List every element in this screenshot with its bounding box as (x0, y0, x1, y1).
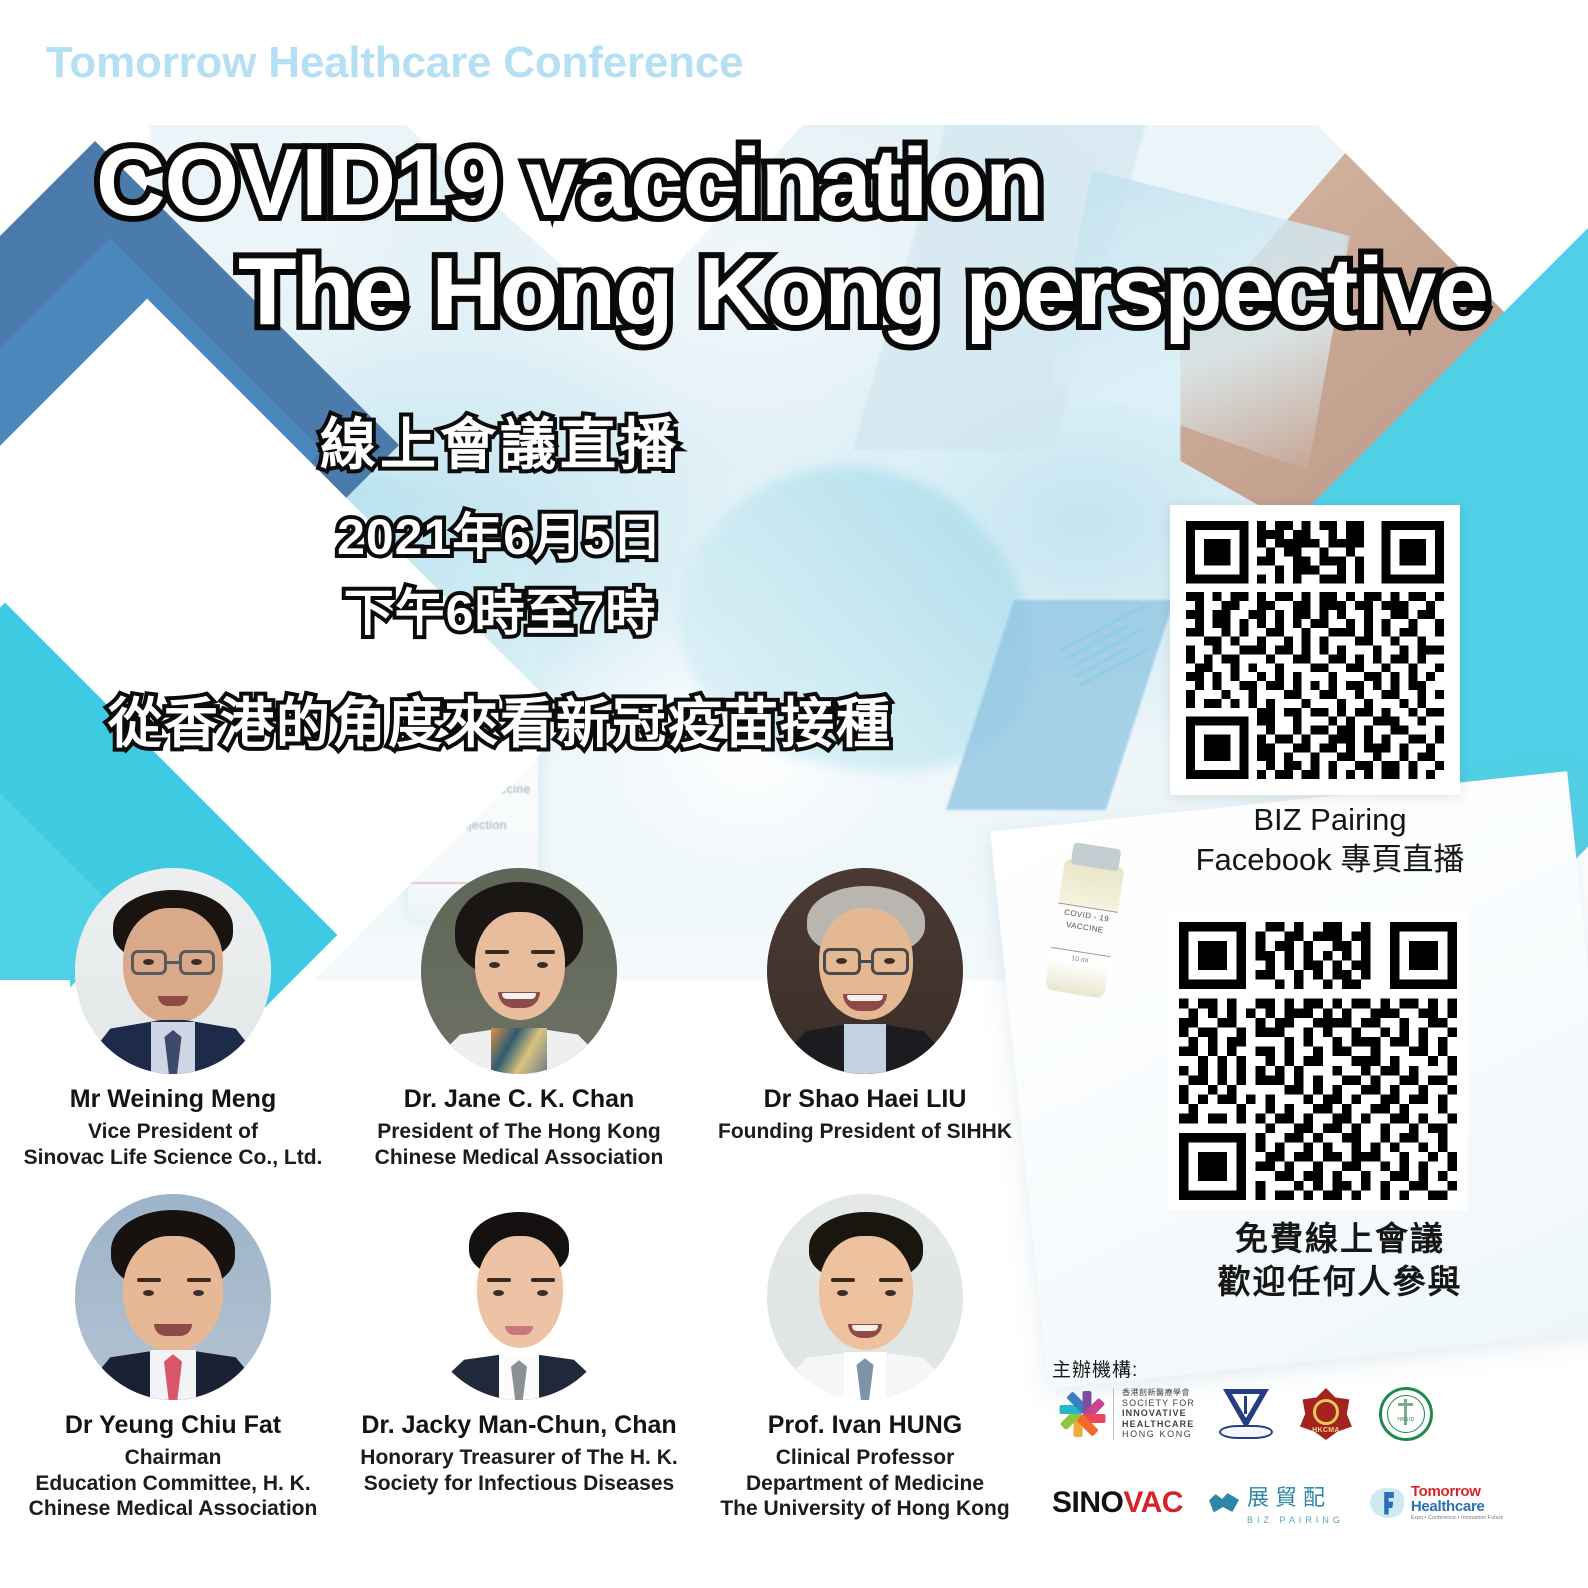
logo-hkam-crest (1217, 1385, 1275, 1443)
speaker-role-line: Sinovac Life Science Co., Ltd. (0, 1145, 346, 1171)
facebook-label: BIZ Pairing Facebook 專頁直播 (1130, 800, 1530, 879)
page-title: COVID19 vaccination The Hong Kong perspe… (0, 128, 1588, 347)
avatar (421, 868, 617, 1074)
tomorrow-wordmark: Tomorrow Healthcare Expo • Conference • … (1411, 1484, 1504, 1521)
logo-tomorrow-healthcare: Tomorrow Healthcare Expo • Conference • … (1370, 1484, 1504, 1521)
handshake-icon (1209, 1490, 1239, 1516)
avatar (75, 868, 271, 1074)
speaker-card-6: Prof. Ivan HUNG Clinical Professor Depar… (692, 1194, 1038, 1522)
speaker-card-3: Dr Shao Haei LIU Founding President of S… (692, 868, 1038, 1170)
conference-poster: COVID 19 coronavirus vaccine for injecti… (0, 0, 1588, 1588)
logo-sihhk: 香港創新醫療學會 SOCIETY FOR INNOVATIVE HEALTHCA… (1052, 1388, 1195, 1440)
speaker-role: President of The Hong Kong Chinese Medic… (346, 1119, 692, 1170)
free-webinar-line1: 免費線上會議 (1140, 1218, 1540, 1261)
logo-bizpairing: 展貿配 BIZ PAIRING (1209, 1480, 1344, 1525)
bizpairing-en: BIZ PAIRING (1247, 1515, 1344, 1525)
tomorrow-line2: Healthcare (1411, 1499, 1504, 1514)
sihhk-en2: INNOVATIVE (1122, 1408, 1195, 1418)
tomorrow-line1: Tomorrow (1411, 1484, 1504, 1499)
event-time: 下午6時至7時 (0, 573, 1000, 645)
speaker-row-2: Dr Yeung Chiu Fat Chairman Education Com… (0, 1194, 1040, 1522)
speaker-name: Dr. Jane C. K. Chan (346, 1084, 692, 1114)
qr-card-registration[interactable] (1170, 505, 1460, 795)
speaker-role-line: Honorary Treasurer of The H. K. (346, 1445, 692, 1471)
speaker-card-2: Dr. Jane C. K. Chan President of The Hon… (346, 868, 692, 1170)
speaker-role: Honorary Treasurer of The H. K. Society … (346, 1445, 692, 1496)
speaker-row-1: Mr Weining Meng Vice President of Sinova… (0, 868, 1040, 1170)
qr-code-registration[interactable] (1186, 521, 1444, 779)
speaker-role-line: Clinical Professor (692, 1445, 1038, 1471)
organizer-logos: 香港創新醫療學會 SOCIETY FOR INNOVATIVE HEALTHCA… (1052, 1385, 1572, 1443)
sihhk-mark-icon (1052, 1388, 1104, 1440)
speaker-name: Prof. Ivan HUNG (692, 1410, 1038, 1440)
speaker-role: Founding President of SIHHK (692, 1119, 1038, 1145)
sinovac-part2: VAC (1123, 1486, 1183, 1519)
sihhk-zh: 香港創新醫療學會 (1122, 1388, 1195, 1397)
hksid-abbr: HKSID (1377, 1417, 1435, 1423)
hkcma-abbr: HKCMA (1297, 1427, 1355, 1434)
free-webinar-label: 免費線上會議 歡迎任何人參與 (1140, 1218, 1540, 1304)
tomorrow-line3: Expo • Conference • Innovation Future (1411, 1516, 1504, 1521)
speaker-name: Dr Yeung Chiu Fat (0, 1410, 346, 1440)
speaker-card-5: Dr. Jacky Man-Chun, Chan Honorary Treasu… (346, 1194, 692, 1522)
title-line-2: The Hong Kong perspective (238, 237, 1588, 346)
conference-kicker: Tomorrow Healthcare Conference (46, 38, 743, 88)
speaker-card-1: Mr Weining Meng Vice President of Sinova… (0, 868, 346, 1170)
sihhk-en4: HONG KONG (1122, 1429, 1195, 1439)
speaker-role-line: Department of Medicine (692, 1471, 1038, 1497)
speaker-role: Clinical Professor Department of Medicin… (692, 1445, 1038, 1522)
event-subtitle: 從香港的角度來看新冠疫苗接種 (0, 679, 1000, 758)
speaker-role: Chairman Education Committee, H. K. Chin… (0, 1445, 346, 1522)
sponsor-logos: SINOVAC 展貿配 BIZ PAIRING Tomorrow Healthc… (1052, 1480, 1588, 1525)
speaker-role-line: Chinese Medical Association (346, 1145, 692, 1171)
speaker-role-line: Society for Infectious Diseases (346, 1471, 692, 1497)
title-line-1: COVID19 vaccination (96, 128, 1588, 237)
free-webinar-line2: 歡迎任何人參與 (1140, 1261, 1540, 1304)
event-date: 2021年6月5日 (0, 497, 1000, 569)
avatar (75, 1194, 271, 1400)
logo-hksid-crest: HKSID (1377, 1385, 1435, 1443)
speaker-role-line: Vice President of (0, 1119, 346, 1145)
logo-sinovac: SINOVAC (1052, 1486, 1183, 1520)
sihhk-en3: HEALTHCARE (1122, 1419, 1195, 1429)
speaker-list: Mr Weining Meng Vice President of Sinova… (0, 868, 1040, 1522)
live-stream-label: 線上會議直播 (0, 400, 1000, 481)
sihhk-en1: SOCIETY FOR (1122, 1398, 1195, 1408)
speaker-role-line: Chinese Medical Association (0, 1496, 346, 1522)
logo-hkcma-crest: HKCMA (1297, 1385, 1355, 1443)
avatar (421, 1194, 617, 1400)
sinovac-part1: SINO (1052, 1486, 1123, 1519)
bizpairing-zh: 展貿配 (1247, 1480, 1344, 1512)
qr-card-facebook[interactable] (1168, 912, 1468, 1210)
speaker-role-line: Education Committee, H. K. (0, 1471, 346, 1497)
facebook-label-line1: BIZ Pairing (1130, 800, 1530, 840)
avatar (767, 868, 963, 1074)
speaker-name: Dr Shao Haei LIU (692, 1084, 1038, 1114)
event-details: 線上會議直播 2021年6月5日 下午6時至7時 從香港的角度來看新冠疫苗接種 (0, 400, 1000, 758)
qr-code-facebook[interactable] (1178, 922, 1458, 1200)
speaker-name: Mr Weining Meng (0, 1084, 346, 1114)
avatar (767, 1194, 963, 1400)
facebook-label-line2: Facebook 專頁直播 (1130, 840, 1530, 880)
tomorrow-mark-icon (1370, 1488, 1404, 1518)
organizers-label: 主辦機構: (1052, 1355, 1138, 1382)
speaker-role-line: Chairman (0, 1445, 346, 1471)
sihhk-wordmark: 香港創新醫療學會 SOCIETY FOR INNOVATIVE HEALTHCA… (1113, 1388, 1195, 1439)
speaker-name: Dr. Jacky Man-Chun, Chan (346, 1410, 692, 1440)
speaker-card-4: Dr Yeung Chiu Fat Chairman Education Com… (0, 1194, 346, 1522)
speaker-role-line: The University of Hong Kong (692, 1496, 1038, 1522)
speaker-role-line: Founding President of SIHHK (692, 1119, 1038, 1145)
speaker-role: Vice President of Sinovac Life Science C… (0, 1119, 346, 1170)
speaker-role-line: President of The Hong Kong (346, 1119, 692, 1145)
